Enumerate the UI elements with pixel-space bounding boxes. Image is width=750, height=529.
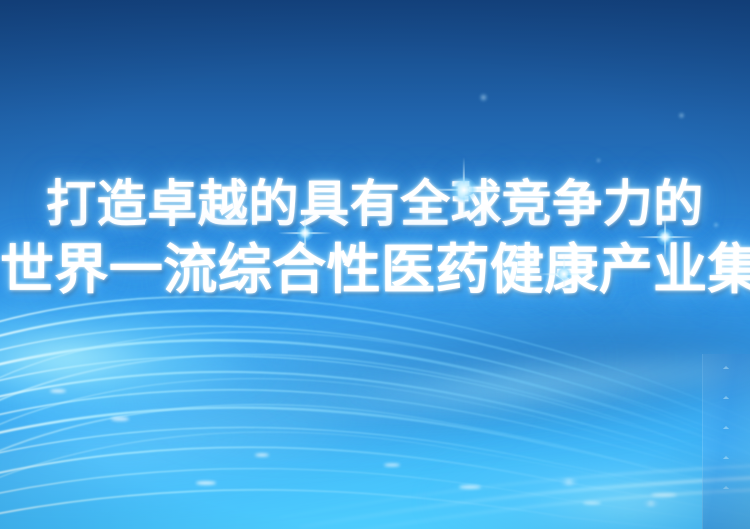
headline-line-2: 世界一流综合性医药健康产业集团 bbox=[0, 236, 750, 304]
bokeh-dot bbox=[596, 158, 601, 163]
vision-banner: 打造卓越的具有全球竞争力的 世界一流综合性医药健康产业集团 bbox=[0, 0, 750, 529]
tower-shading bbox=[702, 354, 750, 529]
light-streaks-layer bbox=[0, 269, 750, 529]
bokeh-dot bbox=[479, 93, 488, 102]
headline-block: 打造卓越的具有全球竞争力的 世界一流综合性医药健康产业集团 bbox=[0, 172, 750, 304]
bokeh-dot bbox=[678, 112, 685, 119]
headline-line-1: 打造卓越的具有全球竞争力的 bbox=[0, 172, 750, 236]
chevron-tower-silhouette bbox=[702, 354, 750, 529]
